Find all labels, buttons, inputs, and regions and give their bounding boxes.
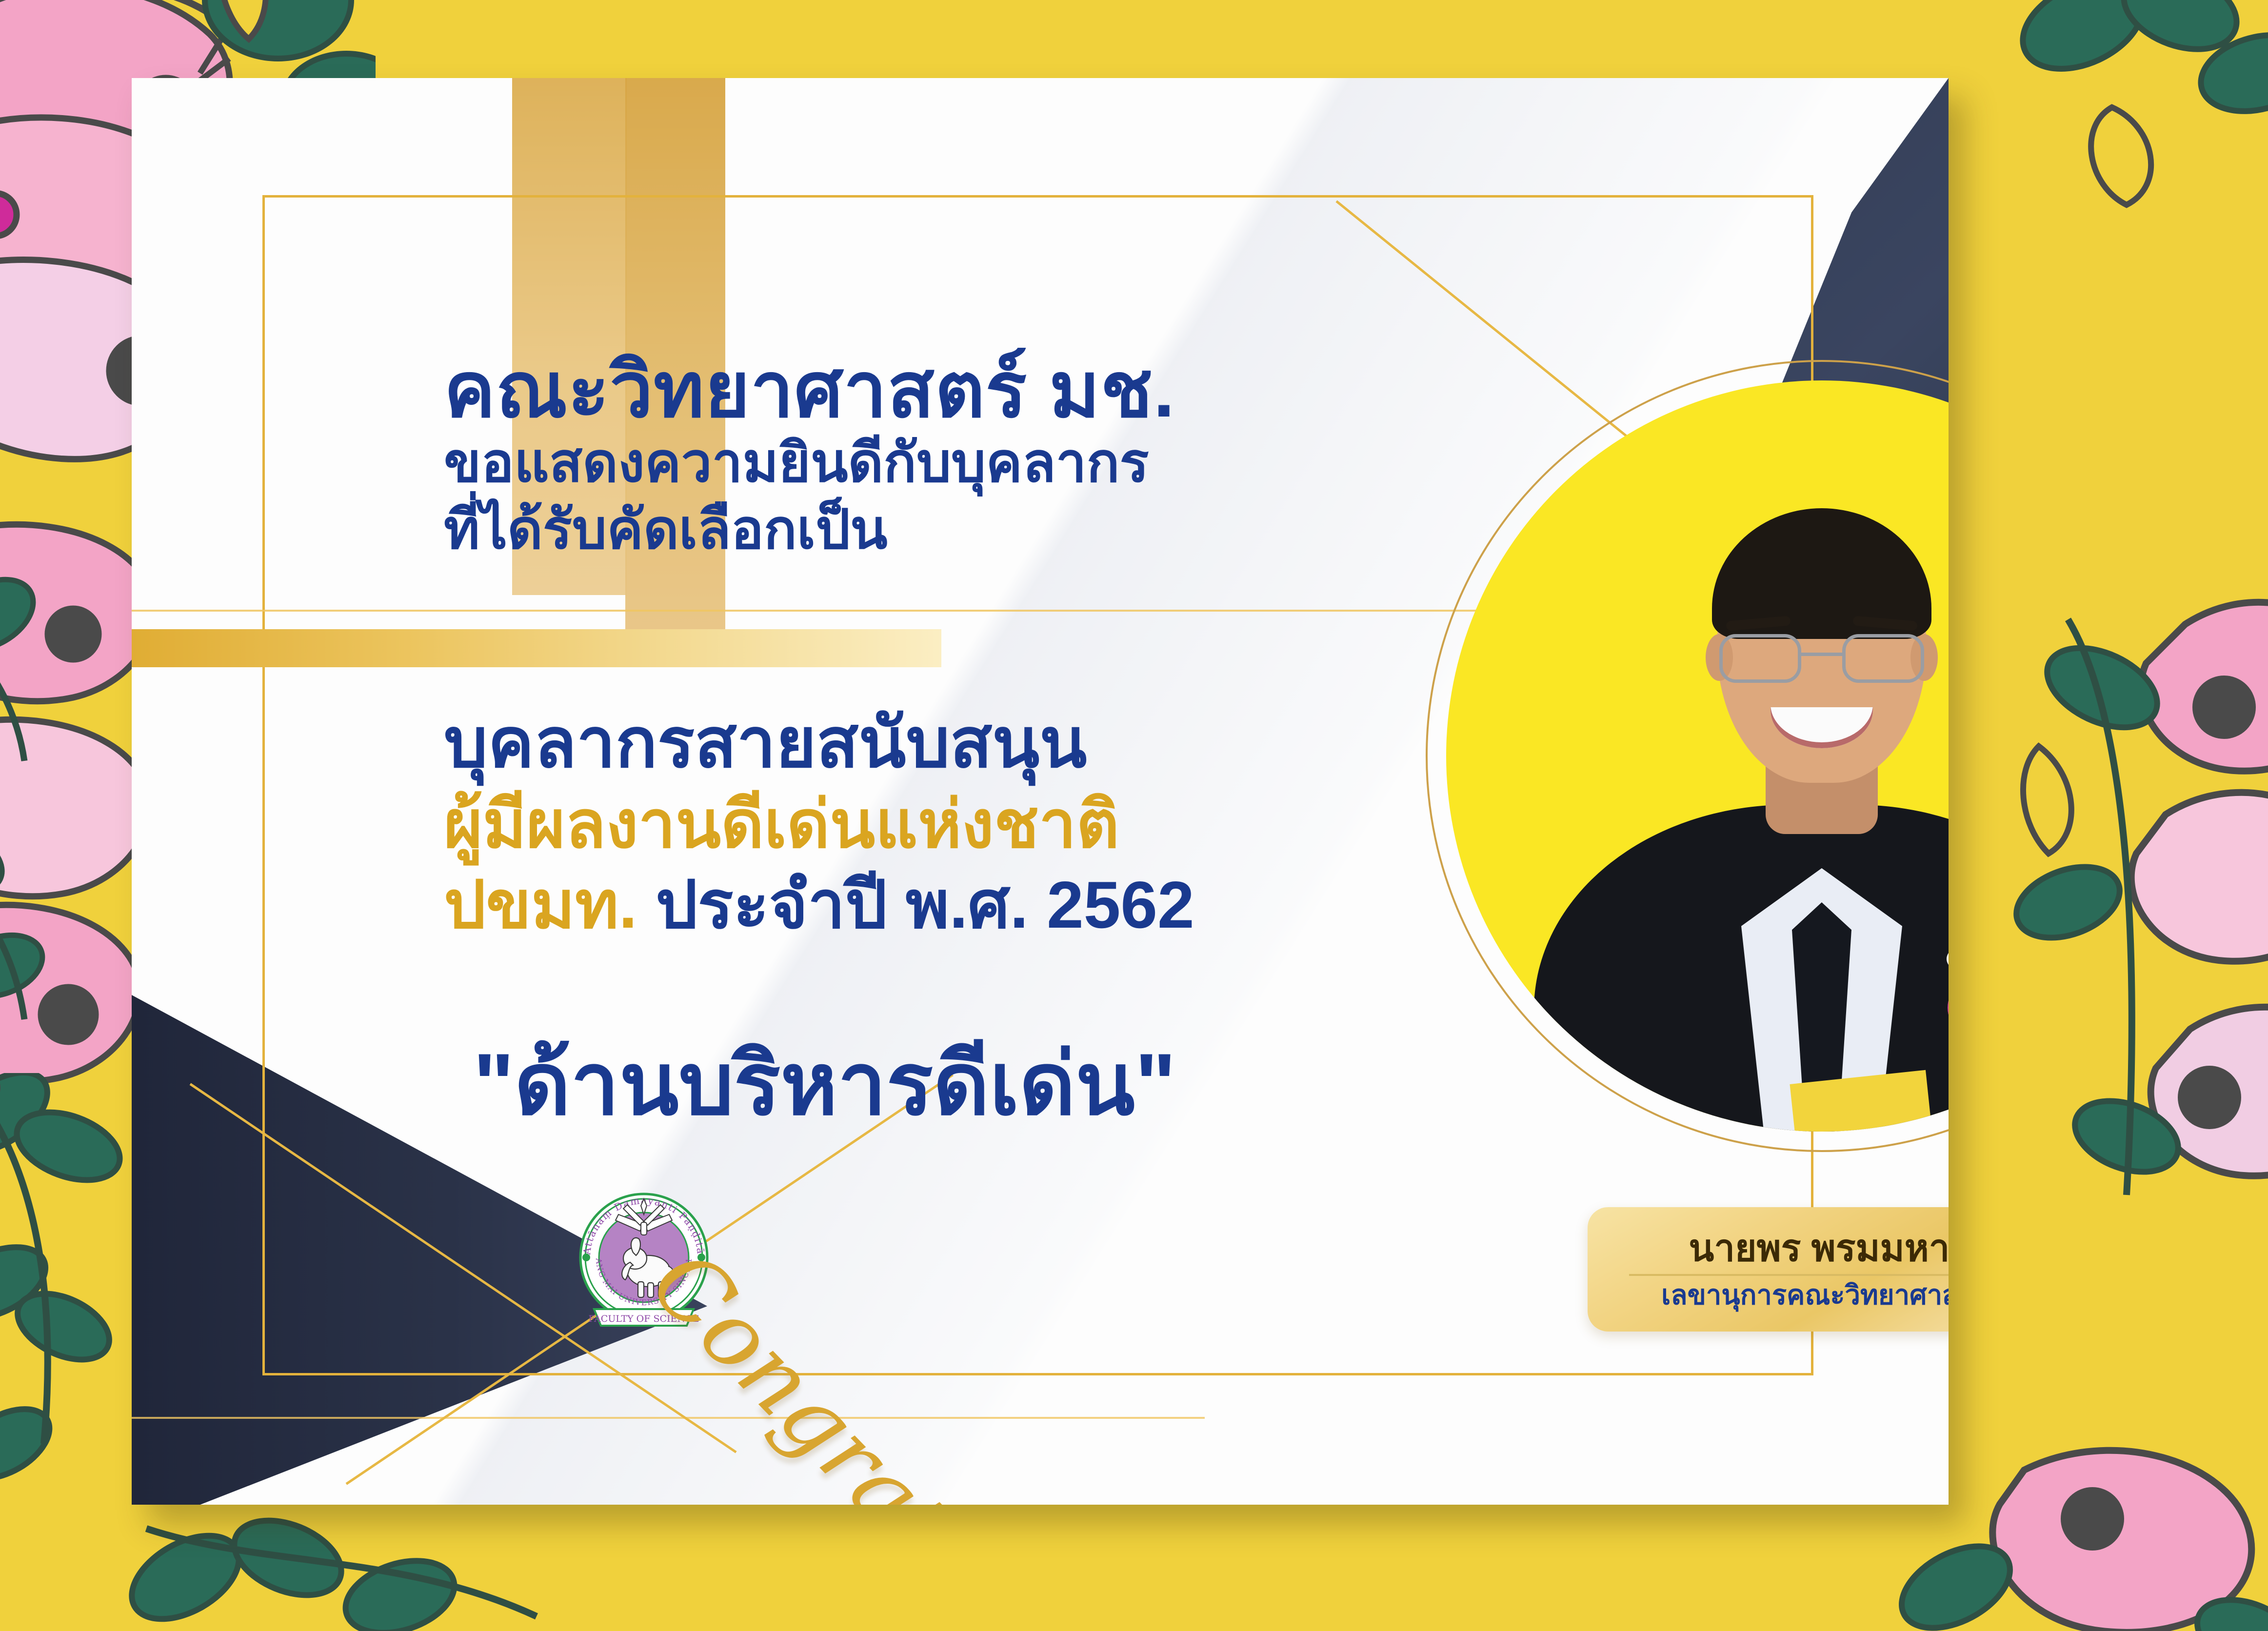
badge-person-role: เลขานุการคณะวิทยาศาสตร์ มช. [1661, 1281, 1949, 1310]
headline-selected-as: ที่ได้รับคัดเลือกเป็น [444, 497, 1492, 563]
badge-divider [1629, 1274, 1949, 1276]
congratulations-poster: คณะวิทยาศาสตร์ มช. ขอแสดงความยินดีกับบุค… [0, 0, 2268, 1631]
glasses-bridge [1801, 653, 1842, 656]
glasses-lens-left [1719, 634, 1801, 683]
name-badge: นายพร พรมมหาราช เลขานุการคณะวิทยาศาสตร์ … [1588, 1207, 1949, 1332]
award-title: ผู้มีผลงานดีเด่นแห่งชาติ [444, 784, 1517, 865]
headline-congratulate: ขอแสดงความยินดีกับบุคลากร [444, 430, 1492, 497]
certificate-card: คณะวิทยาศาสตร์ มช. ขอแสดงความยินดีกับบุค… [132, 78, 1949, 1505]
gold-divider-bar [132, 629, 941, 667]
award-text-block: บุคลากรสายสนับสนุน ผู้มีผลงานดีเด่นแห่งช… [444, 702, 1517, 946]
eyeglasses-icon [1719, 634, 1924, 685]
gold-horizontal-line-bottom [132, 1417, 1205, 1419]
award-org-year: ปขมท. ประจำปี พ.ศ. 2562 [444, 865, 1517, 946]
award-org-abbrev: ปขมท. [444, 868, 637, 942]
orchid-boutonniere [1934, 897, 1949, 1093]
award-year-text: ประจำปี พ.ศ. 2562 [656, 868, 1194, 942]
award-quote: "ด้านบริหารดีเด่น" [473, 1014, 1546, 1153]
award-category: บุคลากรสายสนับสนุน [444, 702, 1517, 784]
badge-person-name: นายพร พรมมหาราช [1689, 1229, 1949, 1268]
headline-faculty: คณะวิทยาศาสตร์ มช. [444, 351, 1492, 430]
header-text-block: คณะวิทยาศาสตร์ มช. ขอแสดงความยินดีกับบุค… [444, 351, 1492, 563]
orchid-petal [1948, 976, 1949, 1039]
glasses-lens-right [1842, 634, 1924, 683]
